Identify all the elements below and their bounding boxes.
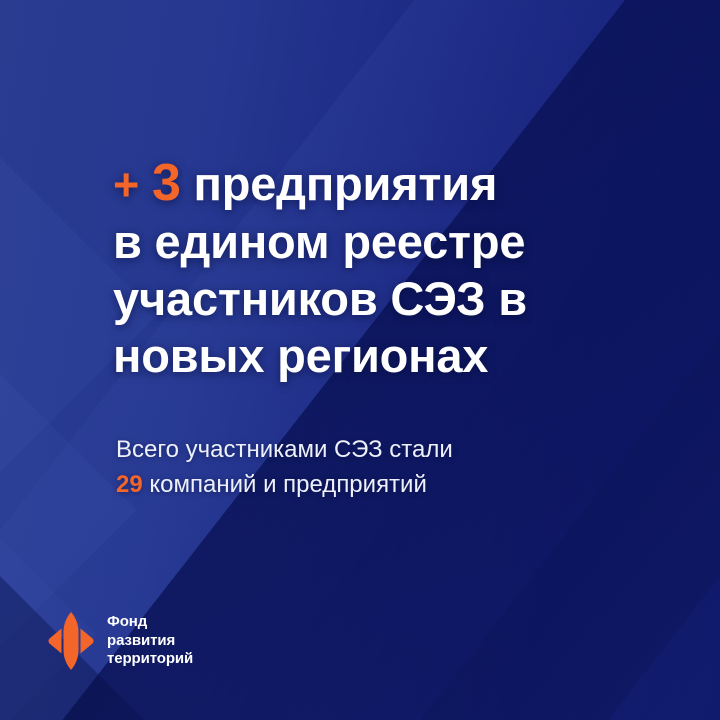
logo-line-1: Фонд [107,613,147,630]
poster-content: + 3 предприятия в едином реестре участни… [0,0,720,720]
subline: Всего участниками СЭЗ стали 29 компаний … [116,432,636,502]
subline-line1: Всего участниками СЭЗ стали [116,436,453,463]
headline-line3: участников СЭЗ в [113,272,527,325]
headline-line2: в едином реестре [113,215,525,268]
logo-line-2: развития [107,632,175,649]
fund-logo-icon [48,610,94,672]
subline-highlight: 29 [116,471,143,498]
poster-canvas: + 3 предприятия в едином реестре участни… [0,0,720,720]
subline-line2-rest: компаний и предприятий [149,471,427,498]
headline-plus-sign: + [113,159,139,210]
headline-number: 3 [152,154,181,212]
headline: + 3 предприятия в едином реестре участни… [113,155,643,384]
logo-wordmark: Фонд развития территорий [107,613,193,669]
headline-line4: новых регионах [113,329,488,382]
logo[interactable]: Фонд развития территорий [48,610,193,672]
headline-line1-rest: предприятия [194,157,498,210]
logo-line-3: территорий [107,650,193,667]
